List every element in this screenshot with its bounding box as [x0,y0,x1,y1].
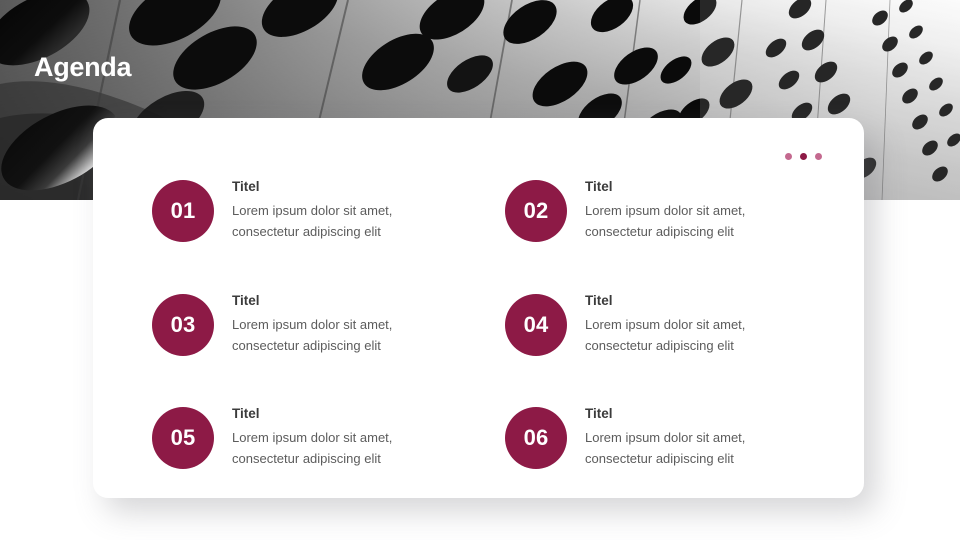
agenda-card: 01 Titel Lorem ipsum dolor sit amet, con… [93,118,864,498]
slide-canvas: Agenda 01 Titel Lorem ipsum dolor sit am… [0,0,960,540]
decor-dot-1 [785,153,792,160]
agenda-item-title: Titel [232,178,432,195]
agenda-item-title: Titel [232,405,432,422]
agenda-item-title: Titel [585,405,785,422]
agenda-item-description: Lorem ipsum dolor sit amet, consectetur … [232,200,432,242]
agenda-item-02[interactable]: 02 Titel Lorem ipsum dolor sit amet, con… [505,177,812,242]
agenda-item-05[interactable]: 05 Titel Lorem ipsum dolor sit amet, con… [152,404,459,469]
agenda-item-text: Titel Lorem ipsum dolor sit amet, consec… [585,291,785,356]
number-badge: 05 [152,407,214,469]
agenda-item-description: Lorem ipsum dolor sit amet, consectetur … [232,427,432,469]
number-badge: 04 [505,294,567,356]
agenda-item-text: Titel Lorem ipsum dolor sit amet, consec… [232,177,432,242]
decorative-dots [785,153,822,160]
number-badge: 02 [505,180,567,242]
agenda-item-title: Titel [232,292,432,309]
agenda-item-description: Lorem ipsum dolor sit amet, consectetur … [585,427,785,469]
agenda-item-description: Lorem ipsum dolor sit amet, consectetur … [232,314,432,356]
agenda-item-title: Titel [585,178,785,195]
agenda-item-01[interactable]: 01 Titel Lorem ipsum dolor sit amet, con… [152,177,459,242]
agenda-item-text: Titel Lorem ipsum dolor sit amet, consec… [232,404,432,469]
agenda-item-text: Titel Lorem ipsum dolor sit amet, consec… [232,291,432,356]
number-badge: 03 [152,294,214,356]
number-badge: 01 [152,180,214,242]
agenda-item-description: Lorem ipsum dolor sit amet, consectetur … [585,200,785,242]
agenda-item-title: Titel [585,292,785,309]
agenda-item-04[interactable]: 04 Titel Lorem ipsum dolor sit amet, con… [505,291,812,356]
agenda-item-description: Lorem ipsum dolor sit amet, consectetur … [585,314,785,356]
number-badge: 06 [505,407,567,469]
agenda-grid: 01 Titel Lorem ipsum dolor sit amet, con… [152,177,812,469]
agenda-item-text: Titel Lorem ipsum dolor sit amet, consec… [585,177,785,242]
agenda-item-03[interactable]: 03 Titel Lorem ipsum dolor sit amet, con… [152,291,459,356]
page-title: Agenda [34,52,131,83]
decor-dot-3 [815,153,822,160]
decor-dot-2 [800,153,807,160]
agenda-item-06[interactable]: 06 Titel Lorem ipsum dolor sit amet, con… [505,404,812,469]
agenda-item-text: Titel Lorem ipsum dolor sit amet, consec… [585,404,785,469]
